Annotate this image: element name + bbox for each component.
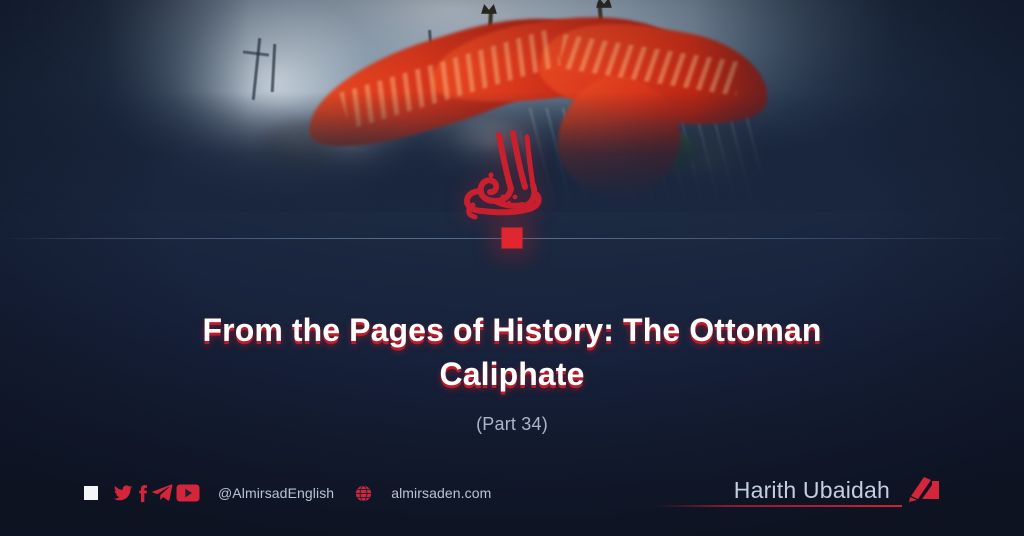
- twitter-icon[interactable]: [112, 483, 134, 503]
- website-url[interactable]: almirsaden.com: [391, 485, 491, 501]
- telegram-icon[interactable]: [152, 483, 174, 503]
- page-title: From the Pages of History: The Ottoman C…: [132, 308, 892, 396]
- writing-hand-icon: [900, 475, 940, 505]
- author-name: Harith Ubaidah: [734, 477, 890, 506]
- part-label: (Part 34): [0, 414, 1024, 435]
- facebook-icon[interactable]: [136, 483, 150, 503]
- footer-bar: @AlmirsadEnglish almirsaden.com Harith U…: [0, 456, 1024, 536]
- almirsad-arabic-calligraphy-icon: [437, 131, 587, 235]
- almirsad-logo: [412, 128, 612, 238]
- social-icon-group: [112, 483, 200, 503]
- slide-card: From the Pages of History: The Ottoman C…: [0, 0, 1024, 536]
- social-bar: @AlmirsadEnglish almirsaden.com: [84, 483, 491, 503]
- globe-icon: [355, 485, 372, 502]
- author-signature: Harith Ubaidah: [734, 475, 940, 506]
- white-square-marker: [84, 486, 98, 500]
- title-block: From the Pages of History: The Ottoman C…: [0, 308, 1024, 435]
- red-square-accent: [502, 228, 523, 249]
- social-handle[interactable]: @AlmirsadEnglish: [218, 485, 334, 501]
- signature-underline: [654, 505, 902, 507]
- youtube-icon[interactable]: [176, 483, 200, 503]
